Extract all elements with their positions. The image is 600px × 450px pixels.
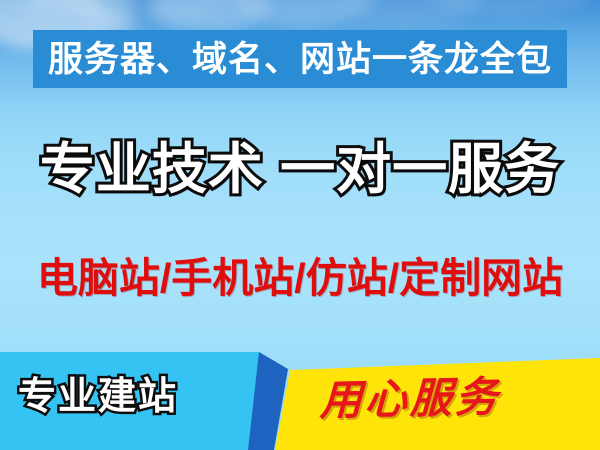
ribbon-left-text: 专业建站 [18,378,178,416]
ribbon-left-panel: 专业建站 [0,350,272,450]
slogan-text: 专业技术 一对一服务 [40,142,560,197]
promo-poster: 服务器、域名、网站一条龙全包 专业技术 一对一服务 电脑站/手机站/仿站/定制网… [0,0,600,450]
headline-text: 服务器、域名、网站一条龙全包 [48,42,552,77]
ribbon-right-panel: 用心服务 [270,350,600,450]
slogan-row: 专业技术 一对一服务 [0,142,600,197]
ribbon-right-text: 用心服务 [319,376,500,422]
services-row: 电脑站/手机站/仿站/定制网站 [0,258,600,299]
bottom-ribbon: 专业建站 用心服务 [0,350,600,450]
headline-banner: 服务器、域名、网站一条龙全包 [33,30,567,88]
services-text: 电脑站/手机站/仿站/定制网站 [37,258,563,299]
